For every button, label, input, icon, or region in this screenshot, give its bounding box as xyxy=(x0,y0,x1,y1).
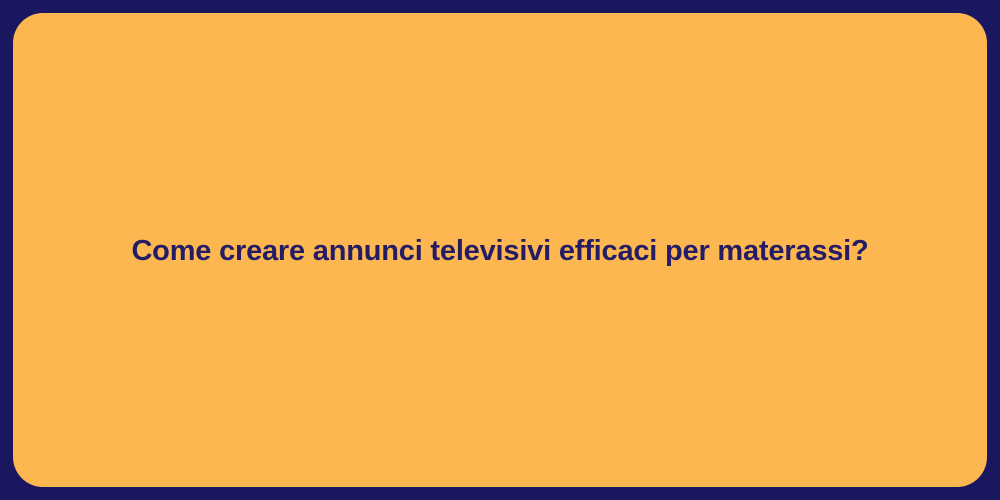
headline-text: Come creare annunci televisivi efficaci … xyxy=(13,233,987,269)
content-card: Come creare annunci televisivi efficaci … xyxy=(13,13,987,487)
outer-border-frame: Come creare annunci televisivi efficaci … xyxy=(0,0,1000,500)
